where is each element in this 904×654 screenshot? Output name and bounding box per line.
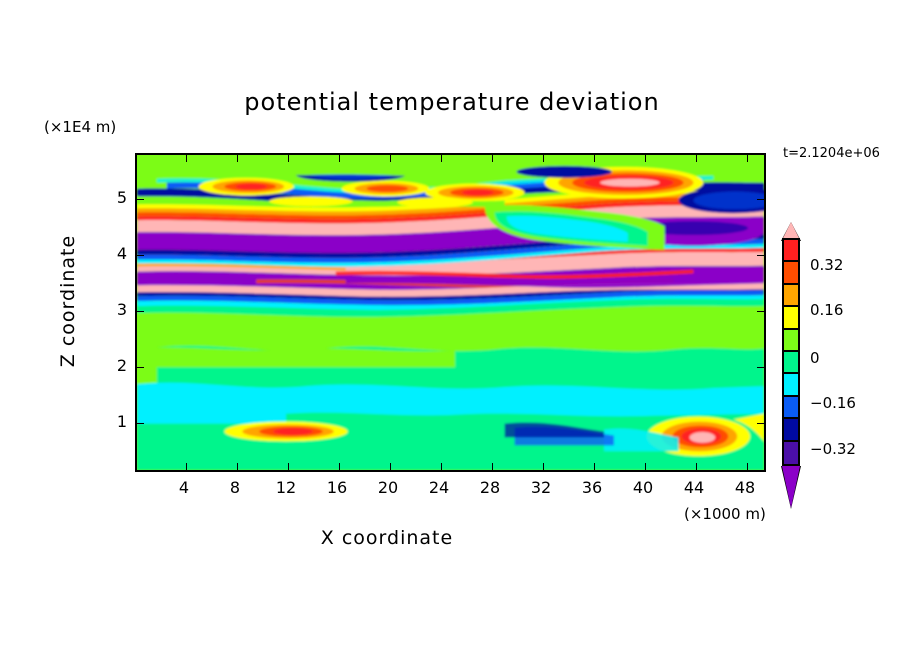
y-tick: [137, 423, 144, 424]
x-tick-top: [696, 155, 697, 162]
x-tick-top: [492, 155, 493, 162]
x-tick-label: 8: [215, 478, 255, 497]
x-tick-top: [543, 155, 544, 162]
x-tick-label: 36: [572, 478, 612, 497]
x-tick-top: [747, 155, 748, 162]
colorbar-label: −0.32: [810, 440, 856, 458]
colorbar-band: [784, 352, 798, 374]
x-tick: [696, 463, 697, 470]
x-tick-label: 40: [623, 478, 663, 497]
x-tick: [237, 463, 238, 470]
y-tick-right: [757, 423, 764, 424]
x-tick-top: [390, 155, 391, 162]
x-tick: [492, 463, 493, 470]
x-tick: [543, 463, 544, 470]
y-tick: [137, 311, 144, 312]
y-tick-right: [757, 367, 764, 368]
x-axis-unit-label: (×1000 m): [684, 505, 766, 523]
x-tick: [645, 463, 646, 470]
timestamp-annotation: t=2.1204e+06: [783, 146, 880, 161]
x-tick-top: [441, 155, 442, 162]
colorbar-band: [784, 262, 798, 284]
colorbar[interactable]: [782, 238, 800, 466]
x-tick: [288, 463, 289, 470]
colorbar-band: [784, 330, 798, 352]
x-tick-top: [288, 155, 289, 162]
colorbar-band: [784, 307, 798, 329]
x-tick-label: 20: [368, 478, 408, 497]
x-tick-top: [339, 155, 340, 162]
y-tick-label: 2: [105, 356, 127, 375]
x-axis-title-text: X coordinate: [321, 527, 453, 549]
x-tick-label: 16: [317, 478, 357, 497]
colorbar-band: [784, 240, 798, 262]
page-title: potential temperature deviation: [0, 88, 904, 116]
x-tick-top: [645, 155, 646, 162]
contour-plot-area[interactable]: [135, 153, 766, 472]
x-tick: [441, 463, 442, 470]
y-axis-unit-label: (×1E4 m): [44, 118, 116, 136]
colorbar-band: [784, 374, 798, 396]
y-tick-right: [757, 199, 764, 200]
colorbar-label: 0.32: [810, 256, 843, 274]
y-tick-right: [757, 311, 764, 312]
x-tick-top: [594, 155, 595, 162]
y-tick: [137, 199, 144, 200]
x-tick: [390, 463, 391, 470]
x-tick-label: 4: [164, 478, 204, 497]
x-tick-label: 44: [674, 478, 714, 497]
x-axis-title: X coordinate: [0, 527, 904, 549]
x-tick-label: 24: [419, 478, 459, 497]
y-tick-label: 1: [105, 412, 127, 431]
x-tick: [594, 463, 595, 470]
colorbar-label: −0.16: [810, 394, 856, 412]
contour-field: [137, 155, 764, 470]
y-tick-label: 4: [105, 244, 127, 263]
colorbar-band: [784, 285, 798, 307]
x-tick-label: 28: [470, 478, 510, 497]
y-tick: [137, 367, 144, 368]
x-tick: [747, 463, 748, 470]
colorbar-bottom-arrow: [782, 466, 800, 508]
colorbar-label: 0.16: [810, 301, 843, 319]
x-tick: [339, 463, 340, 470]
x-tick: [186, 463, 187, 470]
x-tick-label: 32: [521, 478, 561, 497]
x-tick-label: 12: [266, 478, 306, 497]
colorbar-band: [784, 419, 798, 441]
y-tick-label: 3: [105, 300, 127, 319]
x-tick-top: [237, 155, 238, 162]
colorbar-band: [784, 442, 798, 464]
y-tick: [137, 255, 144, 256]
y-tick-label: 5: [105, 188, 127, 207]
y-tick-right: [757, 255, 764, 256]
x-tick-label: 48: [725, 478, 765, 497]
x-tick-top: [186, 155, 187, 162]
y-axis-title: Z coordinate: [57, 201, 79, 401]
colorbar-band: [784, 397, 798, 419]
colorbar-label: 0: [810, 349, 820, 367]
